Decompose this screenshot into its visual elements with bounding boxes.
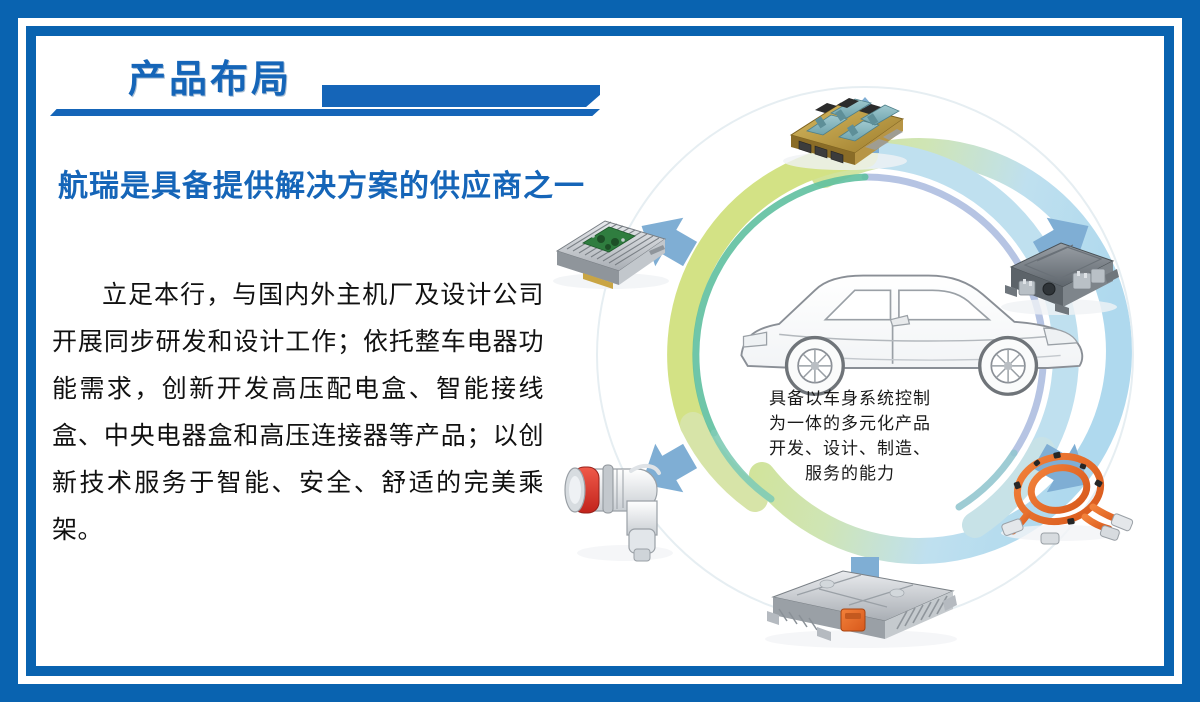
caption-line-3: 开发、设计、制造、 bbox=[735, 436, 965, 461]
caption-line-2: 为一体的多元化产品 bbox=[735, 411, 965, 436]
product-high-voltage-distribution-box bbox=[765, 571, 957, 648]
product-relay-fuse-board bbox=[783, 98, 907, 170]
diagram-center-caption: 具备以车身系统控制 为一体的多元化产品 开发、设计、制造、 服务的能力 bbox=[735, 386, 965, 486]
subheading: 航瑞是具备提供解决方案的供应商之一 bbox=[58, 168, 598, 206]
body-paragraph: 立足本行，与国内外主机厂及设计公司开展同步研发和设计工作；依托整车电器功能需求，… bbox=[52, 272, 544, 554]
caption-line-4: 服务的能力 bbox=[735, 461, 965, 486]
slide-root: 产品布局 航瑞是具备提供解决方案的供应商之一 立足本行，与国内外主机厂及设计公司… bbox=[0, 0, 1200, 702]
product-layout-diagram bbox=[545, 55, 1185, 655]
caption-line-1: 具备以车身系统控制 bbox=[735, 386, 965, 411]
page-title: 产品布局 bbox=[128, 48, 292, 103]
banner-underline-rule bbox=[50, 109, 600, 116]
car-wheel-front bbox=[980, 338, 1037, 395]
banner-accent-block bbox=[322, 85, 600, 107]
title-banner: 产品布局 bbox=[50, 52, 610, 114]
